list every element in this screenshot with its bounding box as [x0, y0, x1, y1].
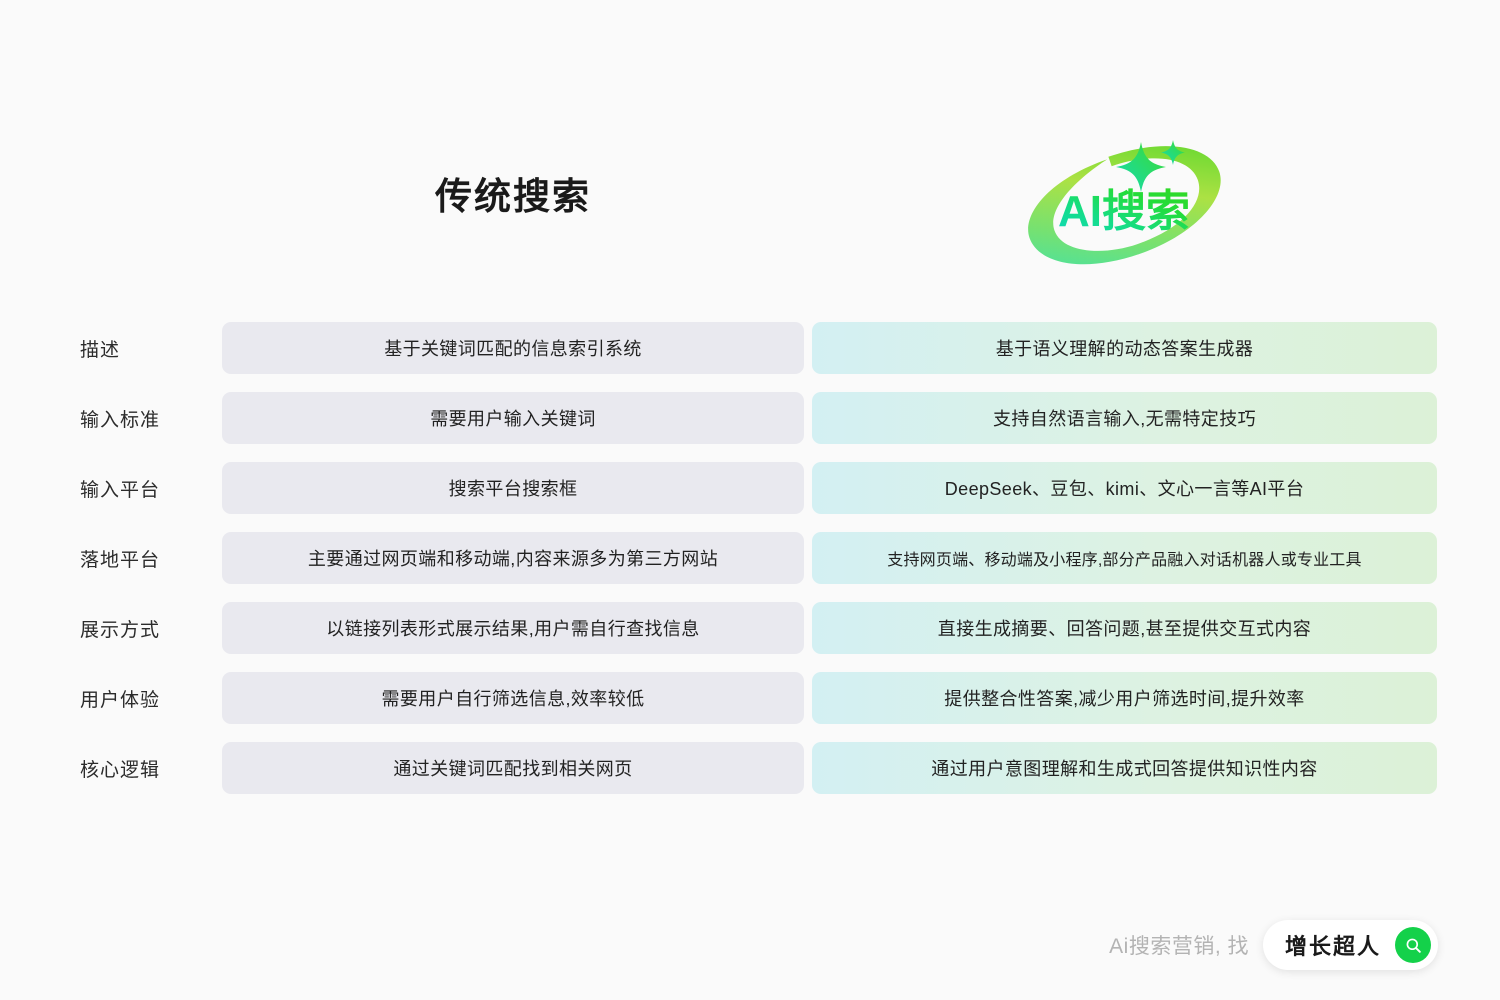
row-label-input-standard: 输入标准: [80, 392, 210, 444]
slide-root: 传统搜索: [0, 0, 1500, 1000]
table-row: 展示方式 以链接列表形式展示结果,用户需自行查找信息 直接生成摘要、回答问题,甚…: [0, 602, 1500, 654]
cell-traditional-input-platform: 搜索平台搜索框: [222, 462, 804, 514]
table-row: 输入标准 需要用户输入关键词 支持自然语言输入,无需特定技巧: [0, 392, 1500, 444]
comparison-headers: 传统搜索: [0, 0, 1500, 300]
brand-pill[interactable]: 增长超人: [1263, 920, 1438, 970]
row-label-landing-platform: 落地平台: [80, 532, 210, 584]
row-label-core-logic: 核心逻辑: [80, 742, 210, 794]
footer-branding: Ai搜索营销, 找 增长超人: [1109, 920, 1438, 970]
row-label-display-mode: 展示方式: [80, 602, 210, 654]
search-icon: [1404, 936, 1423, 955]
cell-traditional-input-standard: 需要用户输入关键词: [222, 392, 804, 444]
row-label-description: 描述: [80, 322, 210, 374]
row-label-user-experience: 用户体验: [80, 672, 210, 724]
cell-ai-user-experience: 提供整合性答案,减少用户筛选时间,提升效率: [812, 672, 1437, 724]
cell-ai-core-logic: 通过用户意图理解和生成式回答提供知识性内容: [812, 742, 1437, 794]
ai-search-logo-text: AI搜索: [1058, 187, 1190, 236]
cell-ai-display-mode: 直接生成摘要、回答问题,甚至提供交互式内容: [812, 602, 1437, 654]
search-button[interactable]: [1395, 927, 1431, 963]
table-row: 核心逻辑 通过关键词匹配找到相关网页 通过用户意图理解和生成式回答提供知识性内容: [0, 742, 1500, 794]
cell-ai-landing-platform: 支持网页端、移动端及小程序,部分产品融入对话机器人或专业工具: [812, 532, 1437, 584]
ai-search-logo-icon: AI搜索: [1010, 130, 1240, 270]
row-label-input-platform: 输入平台: [80, 462, 210, 514]
cell-traditional-user-experience: 需要用户自行筛选信息,效率较低: [222, 672, 804, 724]
table-row: 输入平台 搜索平台搜索框 DeepSeek、豆包、kimi、文心一言等AI平台: [0, 462, 1500, 514]
cell-traditional-landing-platform: 主要通过网页端和移动端,内容来源多为第三方网站: [222, 532, 804, 584]
ai-search-logo: AI搜索: [1010, 130, 1240, 270]
table-row: 用户体验 需要用户自行筛选信息,效率较低 提供整合性答案,减少用户筛选时间,提升…: [0, 672, 1500, 724]
column-header-ai: AI搜索: [812, 130, 1437, 270]
cell-ai-input-standard: 支持自然语言输入,无需特定技巧: [812, 392, 1437, 444]
cell-traditional-description: 基于关键词匹配的信息索引系统: [222, 322, 804, 374]
cell-ai-input-platform: DeepSeek、豆包、kimi、文心一言等AI平台: [812, 462, 1437, 514]
brand-name: 增长超人: [1285, 929, 1381, 961]
cell-traditional-core-logic: 通过关键词匹配找到相关网页: [222, 742, 804, 794]
cell-ai-description: 基于语义理解的动态答案生成器: [812, 322, 1437, 374]
table-row: 落地平台 主要通过网页端和移动端,内容来源多为第三方网站 支持网页端、移动端及小…: [0, 532, 1500, 584]
comparison-table: 描述 基于关键词匹配的信息索引系统 基于语义理解的动态答案生成器 输入标准 需要…: [0, 322, 1500, 812]
cell-traditional-display-mode: 以链接列表形式展示结果,用户需自行查找信息: [222, 602, 804, 654]
column-header-traditional: 传统搜索: [222, 178, 804, 215]
footer-tagline: Ai搜索营销, 找: [1109, 930, 1249, 960]
table-row: 描述 基于关键词匹配的信息索引系统 基于语义理解的动态答案生成器: [0, 322, 1500, 374]
